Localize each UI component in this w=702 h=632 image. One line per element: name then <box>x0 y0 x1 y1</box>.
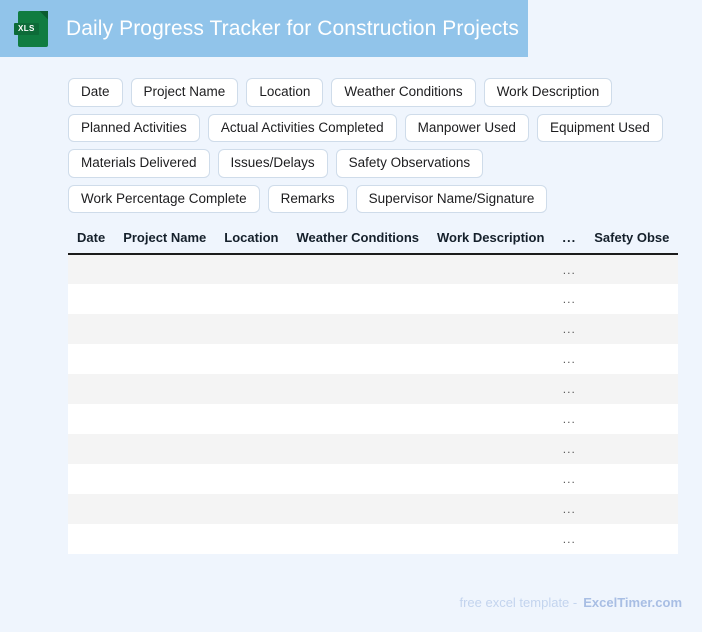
cell-safety-observations[interactable] <box>585 524 678 554</box>
column-header-location[interactable]: Location <box>215 228 287 254</box>
cell-ellipsis: ... <box>553 254 585 284</box>
tag-row-2: Planned Activities Actual Activities Com… <box>68 114 688 143</box>
cell-work-description[interactable] <box>428 344 553 374</box>
cell-location[interactable] <box>215 374 287 404</box>
cell-location[interactable] <box>215 524 287 554</box>
cell-date[interactable] <box>68 284 114 314</box>
page-title: Daily Progress Tracker for Construction … <box>66 17 519 41</box>
table-row[interactable]: ... <box>68 374 678 404</box>
table-row[interactable]: ... <box>68 344 678 374</box>
cell-project-name[interactable] <box>114 314 215 344</box>
cell-safety-observations[interactable] <box>585 374 678 404</box>
cell-safety-observations[interactable] <box>585 284 678 314</box>
column-header-work-description[interactable]: Work Description <box>428 228 553 254</box>
cell-work-description[interactable] <box>428 494 553 524</box>
tag-weather-conditions[interactable]: Weather Conditions <box>331 78 475 107</box>
cell-ellipsis: ... <box>553 314 585 344</box>
cell-location[interactable] <box>215 494 287 524</box>
tag-project-name[interactable]: Project Name <box>131 78 239 107</box>
tag-row-1: Date Project Name Location Weather Condi… <box>68 78 688 107</box>
cell-project-name[interactable] <box>114 524 215 554</box>
tag-safety-observations[interactable]: Safety Observations <box>336 149 484 178</box>
tag-remarks[interactable]: Remarks <box>268 185 348 214</box>
cell-location[interactable] <box>215 434 287 464</box>
table-header-row: Date Project Name Location Weather Condi… <box>68 228 678 254</box>
cell-project-name[interactable] <box>114 344 215 374</box>
tag-issues-delays[interactable]: Issues/Delays <box>218 149 328 178</box>
tag-row-4: Work Percentage Complete Remarks Supervi… <box>68 185 688 214</box>
cell-work-description[interactable] <box>428 284 553 314</box>
cell-ellipsis: ... <box>553 284 585 314</box>
cell-work-description[interactable] <box>428 314 553 344</box>
table-row[interactable]: ... <box>68 314 678 344</box>
cell-location[interactable] <box>215 314 287 344</box>
cell-project-name[interactable] <box>114 404 215 434</box>
cell-weather-conditions[interactable] <box>287 434 428 464</box>
column-tag-list: Date Project Name Location Weather Condi… <box>68 78 688 220</box>
column-header-ellipsis: ... <box>553 228 585 254</box>
cell-ellipsis: ... <box>553 464 585 494</box>
cell-location[interactable] <box>215 344 287 374</box>
tag-location[interactable]: Location <box>246 78 323 107</box>
cell-ellipsis: ... <box>553 494 585 524</box>
cell-date[interactable] <box>68 344 114 374</box>
cell-ellipsis: ... <box>553 434 585 464</box>
tag-date[interactable]: Date <box>68 78 123 107</box>
cell-weather-conditions[interactable] <box>287 524 428 554</box>
cell-project-name[interactable] <box>114 464 215 494</box>
cell-project-name[interactable] <box>114 254 215 284</box>
cell-weather-conditions[interactable] <box>287 494 428 524</box>
tag-manpower-used[interactable]: Manpower Used <box>405 114 529 143</box>
cell-project-name[interactable] <box>114 374 215 404</box>
cell-location[interactable] <box>215 404 287 434</box>
table-row[interactable]: ... <box>68 494 678 524</box>
cell-date[interactable] <box>68 254 114 284</box>
cell-date[interactable] <box>68 524 114 554</box>
cell-location[interactable] <box>215 464 287 494</box>
table-row[interactable]: ... <box>68 464 678 494</box>
cell-project-name[interactable] <box>114 434 215 464</box>
tag-materials-delivered[interactable]: Materials Delivered <box>68 149 210 178</box>
cell-work-description[interactable] <box>428 374 553 404</box>
cell-project-name[interactable] <box>114 494 215 524</box>
app-header-bar: XLS Daily Progress Tracker for Construct… <box>0 0 528 57</box>
cell-location[interactable] <box>215 254 287 284</box>
cell-date[interactable] <box>68 494 114 524</box>
table-row[interactable]: ... <box>68 284 678 314</box>
cell-date[interactable] <box>68 404 114 434</box>
cell-safety-observations[interactable] <box>585 494 678 524</box>
cell-weather-conditions[interactable] <box>287 284 428 314</box>
tag-work-description[interactable]: Work Description <box>484 78 613 107</box>
cell-date[interactable] <box>68 374 114 404</box>
cell-work-description[interactable] <box>428 464 553 494</box>
cell-safety-observations[interactable] <box>585 434 678 464</box>
cell-safety-observations[interactable] <box>585 464 678 494</box>
cell-weather-conditions[interactable] <box>287 464 428 494</box>
table-row[interactable]: ... <box>68 254 678 284</box>
cell-ellipsis: ... <box>553 344 585 374</box>
cell-weather-conditions[interactable] <box>287 314 428 344</box>
xls-badge-label: XLS <box>14 23 39 35</box>
tag-row-3: Materials Delivered Issues/Delays Safety… <box>68 149 688 178</box>
cell-weather-conditions[interactable] <box>287 344 428 374</box>
xls-file-icon: XLS <box>18 11 48 47</box>
tag-work-percentage-complete[interactable]: Work Percentage Complete <box>68 185 260 214</box>
table-head: Date Project Name Location Weather Condi… <box>68 228 678 254</box>
footer-brand-link[interactable]: ExcelTimer.com <box>583 595 682 610</box>
cell-weather-conditions[interactable] <box>287 404 428 434</box>
cell-safety-observations[interactable] <box>585 314 678 344</box>
footer-note: free excel template - <box>459 595 577 610</box>
table-row[interactable]: ... <box>68 404 678 434</box>
cell-date[interactable] <box>68 464 114 494</box>
cell-project-name[interactable] <box>114 284 215 314</box>
cell-safety-observations[interactable] <box>585 344 678 374</box>
column-header-project-name[interactable]: Project Name <box>114 228 215 254</box>
cell-work-description[interactable] <box>428 254 553 284</box>
table-row[interactable]: ... <box>68 524 678 554</box>
cell-ellipsis: ... <box>553 524 585 554</box>
tag-actual-activities-completed[interactable]: Actual Activities Completed <box>208 114 397 143</box>
cell-weather-conditions[interactable] <box>287 374 428 404</box>
column-header-safety-observations[interactable]: Safety Obse <box>585 228 678 254</box>
column-header-date[interactable]: Date <box>68 228 114 254</box>
table-row[interactable]: ... <box>68 434 678 464</box>
cell-ellipsis: ... <box>553 404 585 434</box>
cell-work-description[interactable] <box>428 404 553 434</box>
cell-date[interactable] <box>68 314 114 344</box>
tag-planned-activities[interactable]: Planned Activities <box>68 114 200 143</box>
template-preview-table-container: Date Project Name Location Weather Condi… <box>68 228 682 554</box>
column-header-weather-conditions[interactable]: Weather Conditions <box>287 228 428 254</box>
template-preview-table: Date Project Name Location Weather Condi… <box>68 228 678 554</box>
cell-safety-observations[interactable] <box>585 254 678 284</box>
table-body: ... ... ... <box>68 254 678 554</box>
cell-weather-conditions[interactable] <box>287 254 428 284</box>
tag-equipment-used[interactable]: Equipment Used <box>537 114 663 143</box>
cell-location[interactable] <box>215 284 287 314</box>
cell-date[interactable] <box>68 434 114 464</box>
tag-supervisor-name-signature[interactable]: Supervisor Name/Signature <box>356 185 548 214</box>
cell-work-description[interactable] <box>428 434 553 464</box>
cell-safety-observations[interactable] <box>585 404 678 434</box>
cell-work-description[interactable] <box>428 524 553 554</box>
cell-ellipsis: ... <box>553 374 585 404</box>
footer-attribution: free excel template -ExcelTimer.com <box>459 595 682 610</box>
